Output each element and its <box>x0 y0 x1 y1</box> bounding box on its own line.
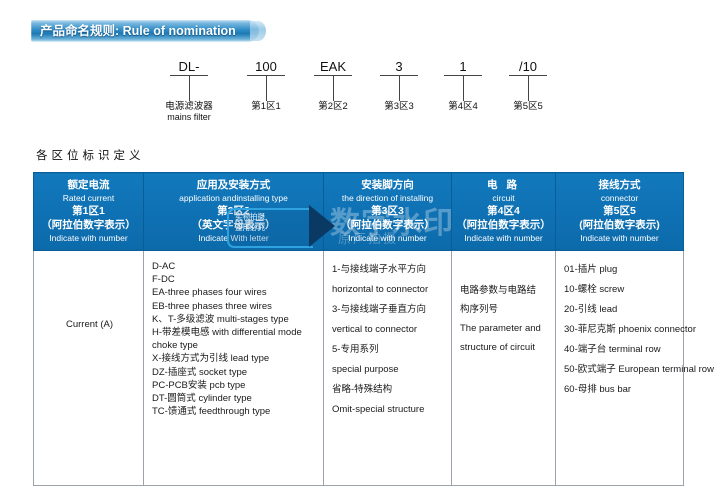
list-item: 20-引线 lead <box>564 300 677 320</box>
header-note-cn: （阿拉伯数字表示） <box>37 218 140 232</box>
code-segment-3: 3 第3区3 <box>371 58 427 112</box>
list-item: 3-与接线端子垂直方向 <box>332 300 445 320</box>
list-item: Omit-special structure <box>332 400 445 420</box>
header-title-cn: 电 路 <box>455 178 552 192</box>
header-note-cn: （阿拉伯数字表示） <box>327 218 448 232</box>
code-segment-value: EAK <box>314 59 352 76</box>
header-title-en: Rated current <box>37 192 140 204</box>
table-cell-zone-5: 01-插片 plug 10-螺栓 screw 20-引线 lead 30-菲尼克… <box>556 251 684 486</box>
code-segment-label: 第1区1 <box>236 101 296 112</box>
list-item: structure of circuit <box>460 338 549 357</box>
code-segment-leader-line <box>399 76 400 101</box>
page-title: 产品命名规则: Rule of nomination <box>40 20 236 42</box>
header-title-cn: 接线方式 <box>559 178 680 192</box>
header-title-cn: 额定电流 <box>37 178 140 192</box>
table-body-row: Current (A) D-AC F-DC EA-three phases fo… <box>34 251 684 486</box>
connector-type-list: 01-插片 plug 10-螺栓 screw 20-引线 lead 30-菲尼克… <box>564 260 677 400</box>
code-segment-label-cn: 第3区3 <box>371 101 427 112</box>
table-header-zone-3: 安装脚方向 the direction of installing 第3区3 （… <box>324 173 452 251</box>
circuit-description-list: 电路参数与电路结 构序列号 The parameter and structur… <box>460 281 549 357</box>
list-item: 30-菲尼克斯 phoenix connector <box>564 320 677 340</box>
header-note-cn: （英文字母表示） <box>147 218 320 232</box>
code-segment-value: 3 <box>380 59 418 76</box>
header-title-en: circuit <box>455 192 552 204</box>
code-segment-leader-line <box>189 76 190 101</box>
table-cell-zone-1: Current (A) <box>34 251 144 486</box>
list-item: DZ-插座式 socket type <box>152 366 317 379</box>
rated-current-value: Current (A) <box>66 319 113 330</box>
list-item: 5-专用系列 <box>332 340 445 360</box>
code-segment-label: 第2区2 <box>303 101 363 112</box>
code-segment-value: DL- <box>170 59 208 76</box>
list-item: X-接线方式为引线 lead type <box>152 352 317 365</box>
header-note-en: Indicate With letter <box>147 232 320 244</box>
code-segment-label-cn: 第4区4 <box>436 101 490 112</box>
code-segment-leader-line <box>266 76 267 101</box>
list-item: special purpose <box>332 360 445 380</box>
list-item: 10-螺栓 screw <box>564 280 677 300</box>
code-segment-leader-line <box>333 76 334 101</box>
table-header-zone-4: 电 路 circuit 第4区4 （阿拉伯数字表示） Indicate with… <box>452 173 556 251</box>
header-note-cn: （阿拉伯数字表示） <box>455 218 552 232</box>
table-header-zone-2: 应用及安装方式 application andinstalling type 第… <box>144 173 324 251</box>
code-segment-label: 电源滤波器 mains filter <box>150 101 228 123</box>
header-zone-code: 第5区5 <box>559 204 680 218</box>
list-item: horizontal to connector <box>332 280 445 300</box>
list-item: EB-three phases three wires <box>152 300 317 313</box>
code-segment-label: 第5区5 <box>498 101 558 112</box>
list-item: vertical to connector <box>332 320 445 340</box>
code-segment-leader-line <box>528 76 529 101</box>
list-item: 50-欧式端子 European terminal row <box>564 360 677 380</box>
installing-direction-list: 1-与接线端子水平方向 horizontal to connector 3-与接… <box>332 260 445 420</box>
list-item: choke type <box>152 339 317 352</box>
header-note-en: Indicate with number <box>455 232 552 244</box>
header-zone-code: 第2区2 <box>147 204 320 218</box>
nomination-code-diagram: DL- 电源滤波器 mains filter 100 第1区1 EAK 第2区2… <box>150 58 570 130</box>
code-segment-value: /10 <box>509 59 547 76</box>
code-segment-label: 第3区3 <box>371 101 427 112</box>
list-item: 60-母排 bus bar <box>564 380 677 400</box>
header-note-en: Indicate with number <box>327 232 448 244</box>
code-segment-4: 1 第4区4 <box>436 58 490 112</box>
list-item: 构序列号 <box>460 300 549 319</box>
code-segment-label-cn: 第5区5 <box>498 101 558 112</box>
zone-definition-table: 额定电流 Rated current 第1区1 （阿拉伯数字表示） Indica… <box>33 172 684 486</box>
list-item: 1-与接线端子水平方向 <box>332 260 445 280</box>
header-zone-code: 第1区1 <box>37 204 140 218</box>
list-item: 电路参数与电路结 <box>460 281 549 300</box>
code-segment-label-cn: 电源滤波器 <box>150 101 228 112</box>
header-title-en: the direction of installing <box>327 192 448 204</box>
code-segment-label: 第4区4 <box>436 101 490 112</box>
code-segment-5: /10 第5区5 <box>498 58 558 112</box>
list-item: 40-端子台 terminal row <box>564 340 677 360</box>
code-segment-0: DL- 电源滤波器 mains filter <box>150 58 228 123</box>
list-item: TC-馈通式 feedthrough type <box>152 405 317 418</box>
header-note-cn: (阿拉伯数字表示) <box>559 218 680 232</box>
header-note-en: Indicate with number <box>559 232 680 244</box>
list-item: D-AC <box>152 260 317 273</box>
header-title-en: connector <box>559 192 680 204</box>
table-cell-zone-3: 1-与接线端子水平方向 horizontal to connector 3-与接… <box>324 251 452 486</box>
header-title-cn: 安装脚方向 <box>327 178 448 192</box>
code-segment-2: EAK 第2区2 <box>303 58 363 112</box>
table-cell-zone-4: 电路参数与电路结 构序列号 The parameter and structur… <box>452 251 556 486</box>
table-header-zone-1: 额定电流 Rated current 第1区1 （阿拉伯数字表示） Indica… <box>34 173 144 251</box>
list-item: 01-插片 plug <box>564 260 677 280</box>
application-type-list: D-AC F-DC EA-three phases four wires EB-… <box>152 260 317 418</box>
list-item: 省略-特殊结构 <box>332 380 445 400</box>
section-heading: 各区位标识定义 <box>36 147 145 163</box>
code-segment-leader-line <box>463 76 464 101</box>
code-segment-1: 100 第1区1 <box>236 58 296 112</box>
header-note-en: Indicate with number <box>37 232 140 244</box>
table-header-zone-5: 接线方式 connector 第5区5 (阿拉伯数字表示) Indicate w… <box>556 173 684 251</box>
list-item: H-带差模电感 with differential mode <box>152 326 317 339</box>
list-item: F-DC <box>152 273 317 286</box>
page-title-banner: 产品命名规则: Rule of nomination <box>31 20 259 42</box>
code-segment-label-cn: 第2区2 <box>303 101 363 112</box>
header-title-cn: 应用及安装方式 <box>147 178 320 192</box>
code-segment-value: 1 <box>444 59 482 76</box>
code-segment-label-cn: 第1区1 <box>236 101 296 112</box>
header-title-en: application andinstalling type <box>147 192 320 204</box>
list-item: DT-圆筒式 cylinder type <box>152 392 317 405</box>
header-zone-code: 第3区3 <box>327 204 448 218</box>
code-segment-value: 100 <box>247 59 285 76</box>
list-item: The parameter and <box>460 319 549 338</box>
code-segment-label-en: mains filter <box>150 112 228 123</box>
list-item: K、T-多级滤波 multi-stages type <box>152 313 317 326</box>
table-header-row: 额定电流 Rated current 第1区1 （阿拉伯数字表示） Indica… <box>34 173 684 251</box>
header-zone-code: 第4区4 <box>455 204 552 218</box>
list-item: PC-PCB安装 pcb type <box>152 379 317 392</box>
table-cell-zone-2: D-AC F-DC EA-three phases four wires EB-… <box>144 251 324 486</box>
list-item: EA-three phases four wires <box>152 286 317 299</box>
